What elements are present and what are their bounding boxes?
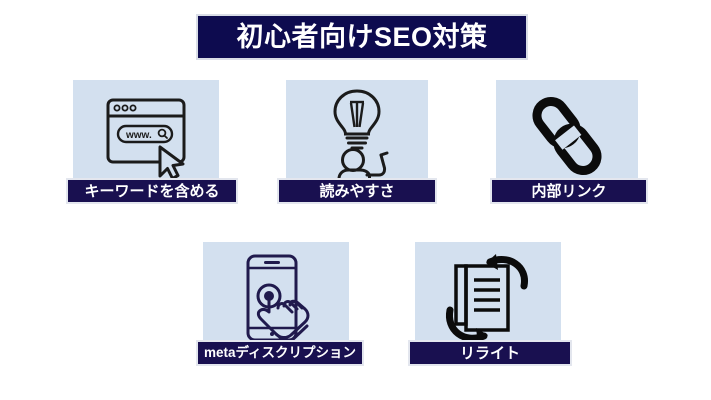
card-internal-link-label-text: 内部リンク xyxy=(531,184,606,199)
svg-text:www.: www. xyxy=(125,130,152,141)
browser-search-cursor-icon: www. xyxy=(73,80,219,192)
person-lightbulb-idea-icon xyxy=(286,80,428,192)
card-internal-link-label[interactable]: 内部リンク xyxy=(490,178,648,204)
card-readability-label[interactable]: 読みやすさ xyxy=(277,178,437,204)
card-keyword-label-text: キーワードを含める xyxy=(84,184,219,199)
page-title-banner: 初心者向けSEO対策 xyxy=(196,14,528,60)
page-title: 初心者向けSEO対策 xyxy=(236,24,487,51)
card-internal-link-art-panel xyxy=(496,80,638,192)
card-meta-description-art-panel xyxy=(203,242,349,354)
card-rewrite-art-panel xyxy=(415,242,561,354)
slide-canvas: 初心者向けSEO対策 www. xyxy=(0,0,711,400)
card-meta-description-label[interactable]: metaディスクリプション xyxy=(196,340,364,366)
chain-link-icon xyxy=(496,80,638,192)
card-readability-art-panel xyxy=(286,80,428,192)
card-keyword-label[interactable]: キーワードを含める xyxy=(66,178,238,204)
card-rewrite-label-text: リライト xyxy=(460,346,520,361)
card-keyword-art-panel: www. xyxy=(73,80,219,192)
card-rewrite-label[interactable]: リライト xyxy=(408,340,572,366)
card-meta-description-label-text: metaディスクリプション xyxy=(204,346,356,360)
smartphone-tap-hand-icon xyxy=(203,242,349,354)
card-readability-label-text: 読みやすさ xyxy=(319,184,394,199)
document-refresh-arrows-icon xyxy=(415,242,561,354)
